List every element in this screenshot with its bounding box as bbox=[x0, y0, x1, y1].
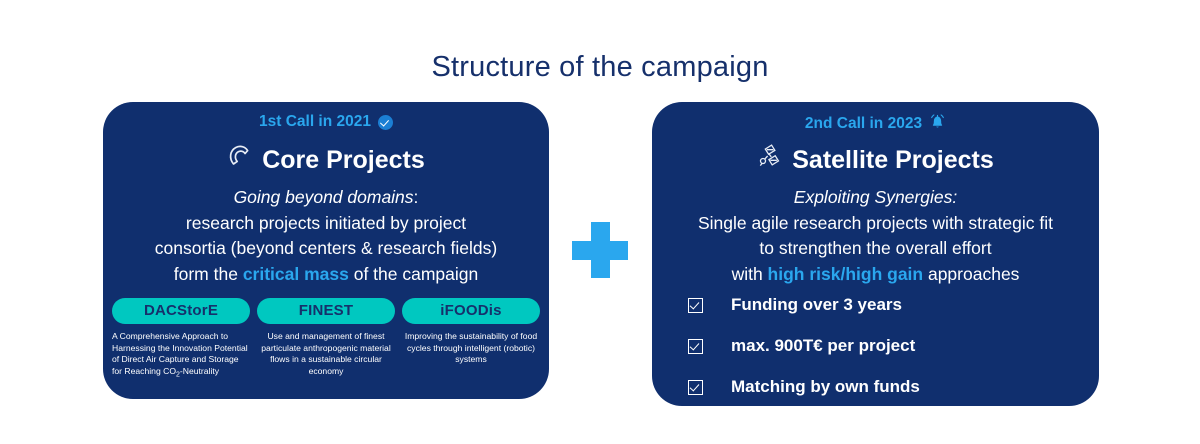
checklist-item: Matching by own funds bbox=[688, 377, 1068, 397]
core-body-line3: consortia (beyond centers & research fie… bbox=[103, 236, 549, 262]
core-body-line4: form the critical mass of the campaign bbox=[103, 262, 549, 288]
satellite-body-line2: Single agile research projects with stra… bbox=[652, 211, 1099, 237]
core-project-list: DACStorE A Comprehensive Approach to Har… bbox=[112, 298, 540, 381]
plus-vertical-bar bbox=[591, 222, 610, 278]
satellite-projects-heading: Satellite Projects bbox=[652, 144, 1099, 177]
checklist-item-label: Matching by own funds bbox=[731, 377, 920, 397]
core-call-label: 1st Call in 2021 bbox=[103, 113, 585, 131]
core-body-line4-prefix: form the bbox=[174, 264, 243, 284]
project-item: DACStorE A Comprehensive Approach to Har… bbox=[112, 298, 250, 381]
satellite-body-line4: with high risk/high gain approaches bbox=[652, 262, 1099, 288]
page-title: Structure of the campaign bbox=[0, 51, 1200, 84]
project-pill-dacstore[interactable]: DACStorE bbox=[112, 298, 250, 324]
plus-separator-icon bbox=[572, 222, 628, 278]
core-body-lead-suffix: : bbox=[414, 187, 419, 207]
checklist-item-label: max. 900T€ per project bbox=[731, 336, 915, 356]
project-description-post: -Neutrality bbox=[180, 366, 219, 376]
core-body-lead: Going beyond domains bbox=[234, 187, 414, 207]
magnet-icon bbox=[227, 144, 253, 177]
core-body-line2: research projects initiated by project bbox=[103, 211, 549, 237]
project-description: A Comprehensive Approach to Harnessing t… bbox=[112, 331, 250, 381]
satellite-body-text: Exploiting Synergies: Single agile resea… bbox=[652, 185, 1099, 287]
project-description: Use and management of finest particulate… bbox=[257, 331, 395, 377]
project-description: Improving the sustainability of food cyc… bbox=[402, 331, 540, 366]
core-projects-panel: 1st Call in 2021 Core Projects Going bey… bbox=[103, 102, 549, 399]
satellite-call-label: 2nd Call in 2023 bbox=[652, 113, 1121, 135]
checklist-item-label: Funding over 3 years bbox=[731, 295, 902, 315]
bell-ringing-icon bbox=[929, 113, 946, 135]
project-item: FINEST Use and management of finest part… bbox=[257, 298, 395, 381]
satellite-body-line3: to strengthen the overall effort bbox=[652, 236, 1099, 262]
satellite-call-label-text: 2nd Call in 2023 bbox=[805, 115, 922, 133]
ballot-check-icon bbox=[688, 380, 703, 395]
satellite-projects-heading-text: Satellite Projects bbox=[792, 146, 993, 175]
project-item: iFOODis Improving the sustainability of … bbox=[402, 298, 540, 381]
core-body-line1: Going beyond domains: bbox=[103, 185, 549, 211]
satellite-icon bbox=[757, 144, 783, 177]
satellite-body-line4-suffix: approaches bbox=[923, 264, 1019, 284]
ballot-check-icon bbox=[688, 298, 703, 313]
ballot-check-icon bbox=[688, 339, 703, 354]
project-pill-finest[interactable]: FINEST bbox=[257, 298, 395, 324]
satellite-projects-panel: 2nd Call in 2023 bbox=[652, 102, 1099, 406]
core-projects-heading: Core Projects bbox=[103, 144, 549, 177]
core-body-line4-suffix: of the campaign bbox=[349, 264, 478, 284]
core-projects-heading-text: Core Projects bbox=[262, 146, 425, 175]
project-pill-ifoodis[interactable]: iFOODis bbox=[402, 298, 540, 324]
satellite-body-lead: Exploiting Synergies: bbox=[652, 185, 1099, 211]
core-call-label-text: 1st Call in 2021 bbox=[259, 113, 371, 131]
checklist-item: max. 900T€ per project bbox=[688, 336, 1068, 356]
core-body-highlight: critical mass bbox=[243, 264, 349, 284]
satellite-body-highlight: high risk/high gain bbox=[768, 264, 924, 284]
checklist-item: Funding over 3 years bbox=[688, 295, 1068, 315]
satellite-checklist: Funding over 3 years max. 900T€ per proj… bbox=[688, 295, 1068, 418]
check-circle-icon bbox=[378, 115, 393, 130]
core-body-text: Going beyond domains: research projects … bbox=[103, 185, 549, 287]
satellite-body-line4-prefix: with bbox=[732, 264, 768, 284]
